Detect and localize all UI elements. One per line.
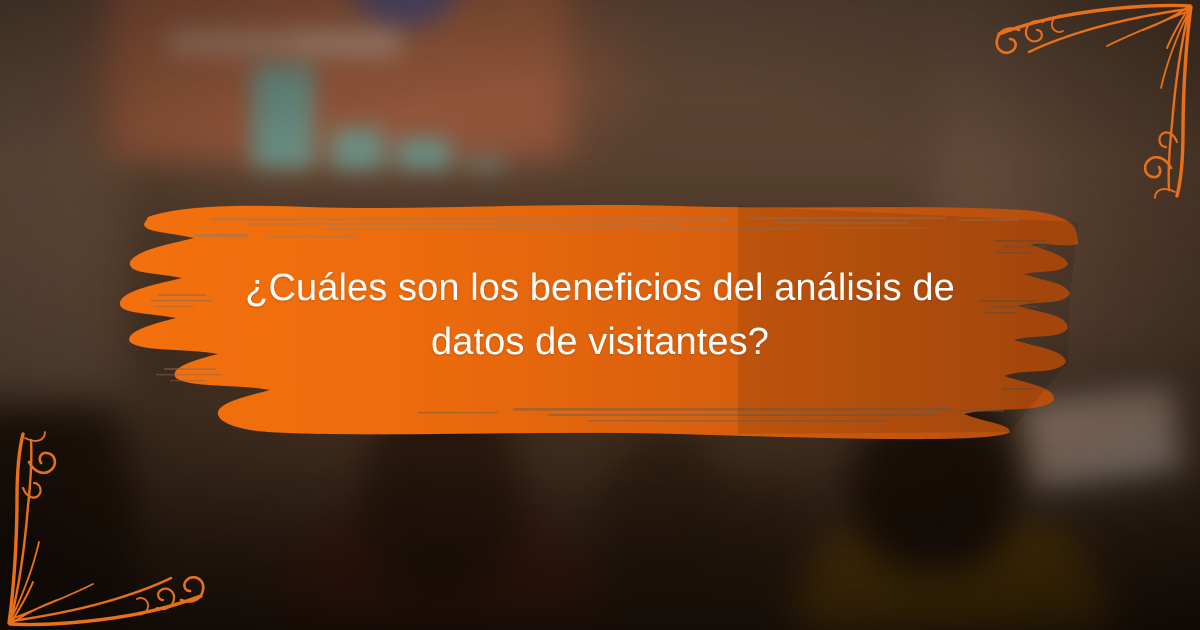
filigree-flourish-top-right-icon [985, 0, 1200, 200]
filigree-flourish-bottom-left-icon [0, 430, 215, 630]
banner-canvas: ¿Cuáles son los beneficios del análisis … [0, 0, 1200, 630]
page-title: ¿Cuáles son los beneficios del análisis … [160, 262, 1040, 370]
